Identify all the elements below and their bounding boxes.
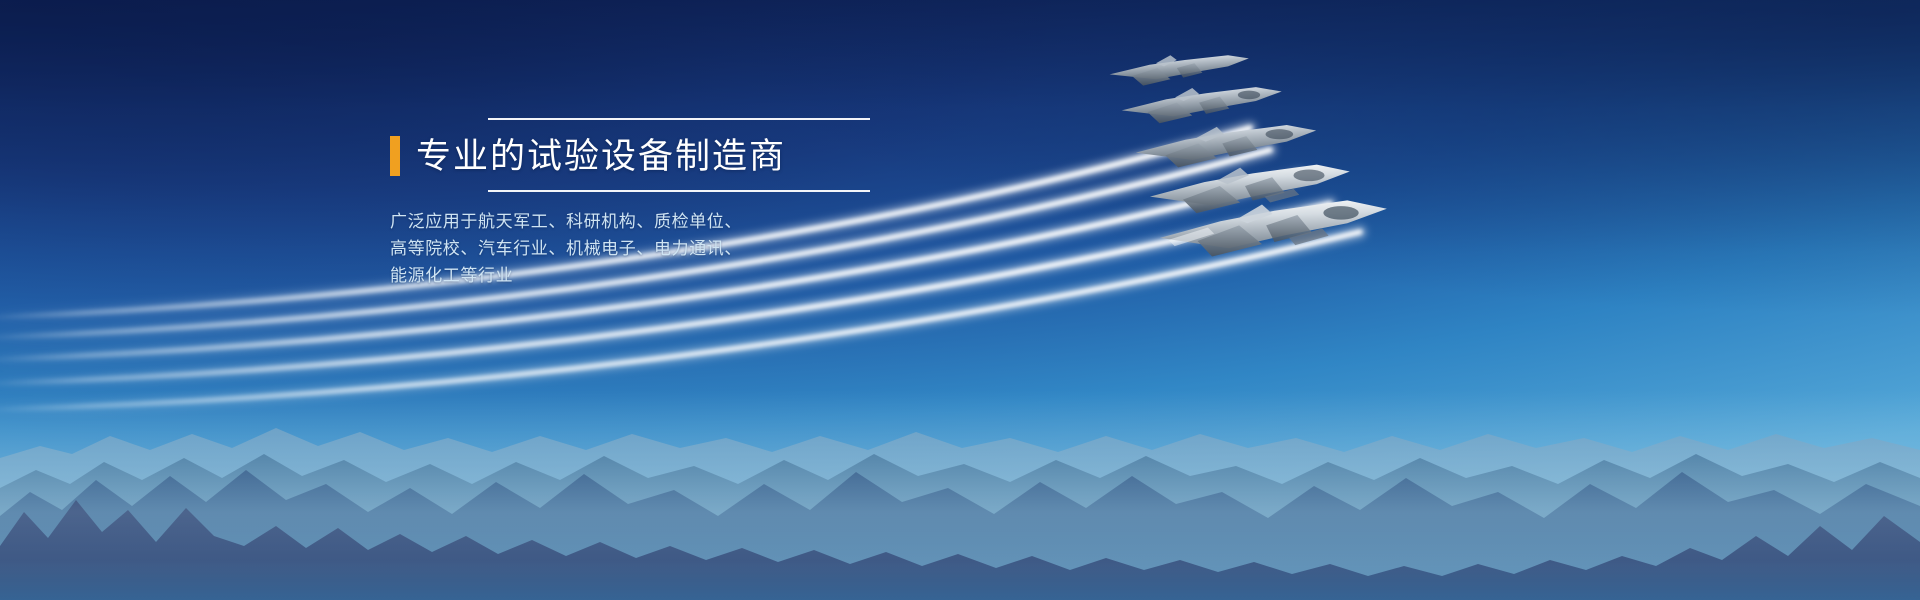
jet-4	[1122, 87, 1282, 123]
page-title: 专业的试验设备制造商	[416, 139, 786, 174]
headline-row: 专业的试验设备制造商	[390, 136, 910, 176]
mountain-range	[0, 350, 1920, 600]
subtitle-block: 广泛应用于航天军工、科研机构、质检单位、 高等院校、汽车行业、机械电子、电力通讯…	[390, 208, 910, 289]
subtitle-line-1: 广泛应用于航天军工、科研机构、质检单位、	[390, 208, 910, 235]
jet-5	[1110, 55, 1249, 85]
subtitle-line-3: 能源化工等行业	[390, 262, 910, 289]
banner-copy: 专业的试验设备制造商 广泛应用于航天军工、科研机构、质检单位、 高等院校、汽车行…	[390, 118, 910, 289]
fighter-jet-formation-icon	[1100, 30, 1520, 290]
divider-top	[488, 118, 870, 120]
subtitle-line-2: 高等院校、汽车行业、机械电子、电力通讯、	[390, 235, 910, 262]
divider-bottom	[488, 190, 870, 192]
jet-3	[1136, 125, 1316, 167]
accent-bar-icon	[390, 136, 400, 176]
hero-banner: 专业的试验设备制造商 广泛应用于航天军工、科研机构、质检单位、 高等院校、汽车行…	[0, 0, 1920, 600]
